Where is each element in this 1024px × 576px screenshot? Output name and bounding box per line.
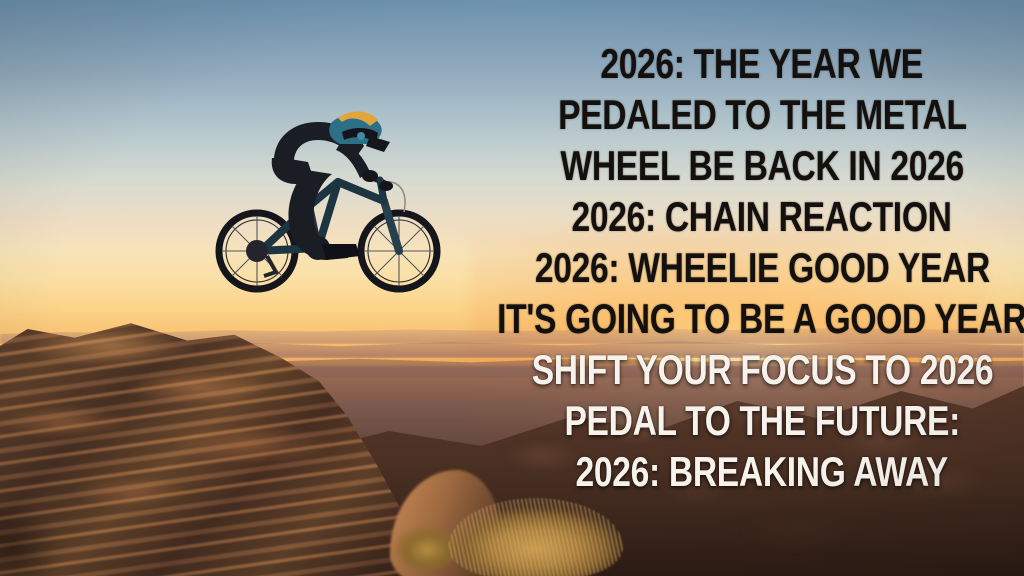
slogan-line-5: 2026: WHEELIE GOOD YEAR — [534, 242, 989, 293]
poster-image: 2026: THE YEAR WE PEDALED TO THE METAL W… — [0, 0, 1024, 576]
slogan-line-3: WHEEL BE BACK IN 2026 — [560, 140, 963, 191]
bicycle-icon — [219, 174, 437, 289]
slogan-line-6: IT'S GOING TO BE A GOOD YEAR — [497, 293, 1024, 344]
slogan-line-9: 2026: BREAKING AWAY — [576, 446, 948, 497]
slogan-line-4: 2026: CHAIN REACTION — [572, 191, 952, 242]
mountain-bike-rider-silhouette — [214, 96, 466, 306]
slogan-line-1: 2026: THE YEAR WE — [601, 38, 924, 89]
slogan-line-8: PEDAL TO THE FUTURE: — [564, 395, 960, 446]
slogan-line-2: PEDALED TO THE METAL — [558, 89, 967, 140]
slogan-text-block: 2026: THE YEAR WE PEDALED TO THE METAL W… — [560, 38, 964, 497]
slogan-line-7: SHIFT YOUR FOCUS TO 2026 — [531, 344, 993, 395]
